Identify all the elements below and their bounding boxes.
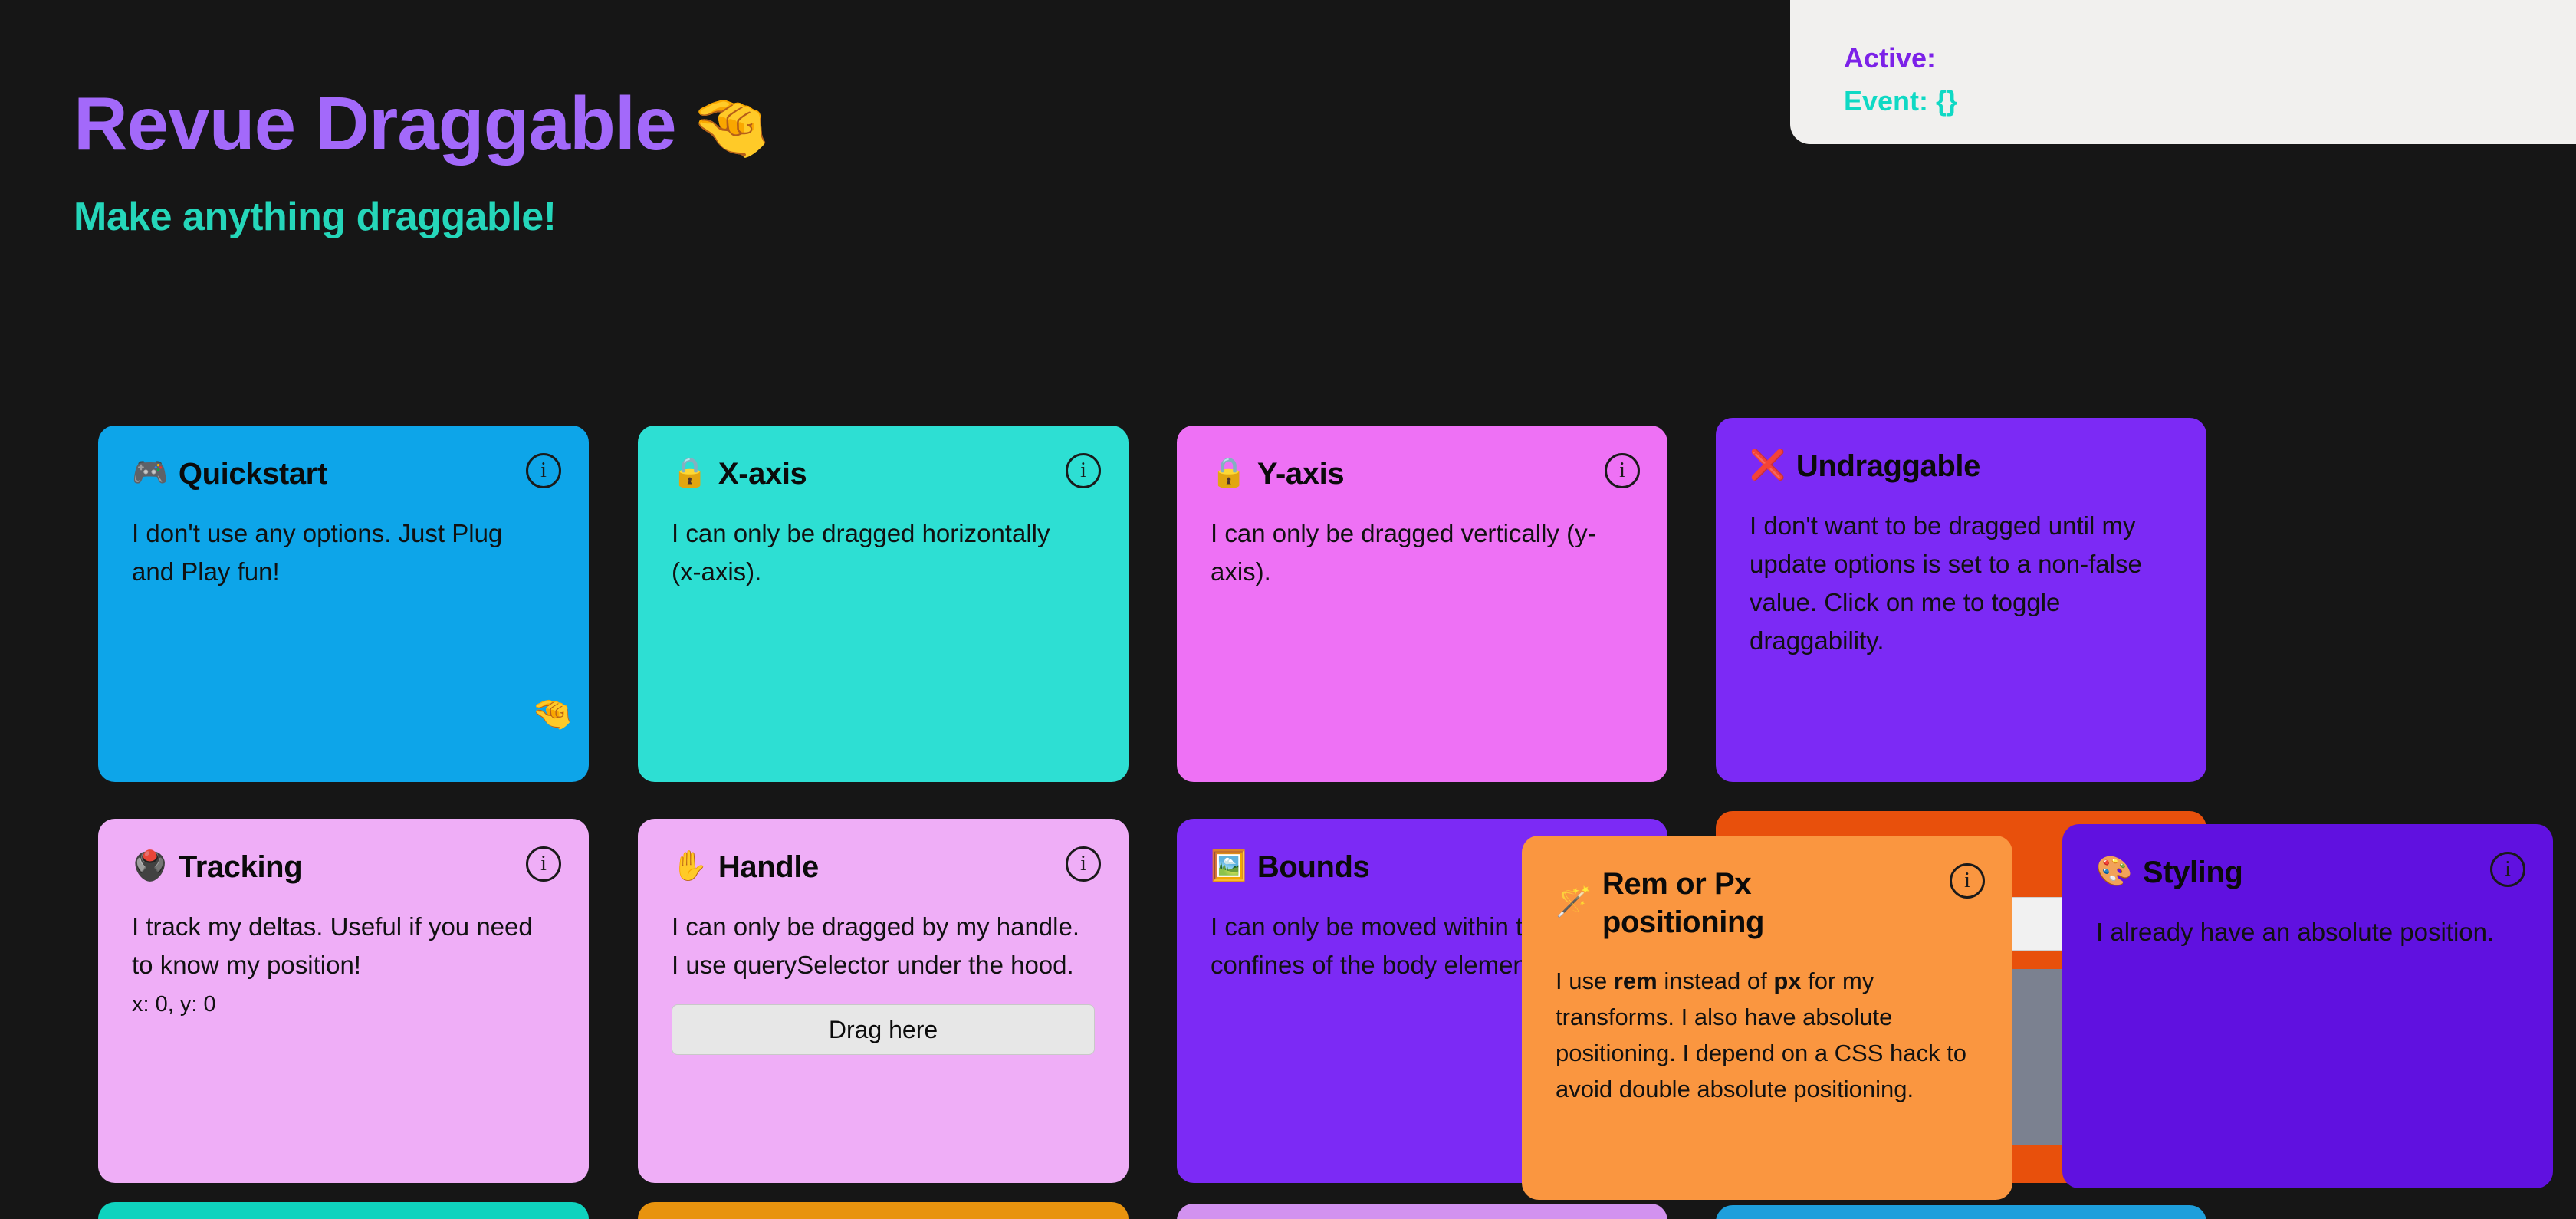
card-header: ❌ Undraggable — [1750, 447, 2173, 485]
card-title: Y-axis — [1257, 455, 1344, 493]
card-description: I already have an absolute position. — [2096, 913, 2514, 951]
card-header: 🪄 Rem or Px positioning — [1556, 865, 1916, 941]
card-undraggable[interactable]: ❌ Undraggable I don't want to be dragged… — [1716, 418, 2206, 782]
card-title: Handle — [718, 848, 819, 886]
card-title: Undraggable — [1796, 447, 1980, 485]
card-header: 🖲️ Tracking — [132, 848, 555, 886]
lock-icon: 🔒 — [1211, 455, 1247, 492]
body-part-3: px — [1773, 968, 1801, 994]
body-part-0: I use — [1556, 968, 1614, 994]
card-x-axis[interactable]: 🔒 X-axis I can only be dragged horizonta… — [638, 426, 1129, 782]
tracking-delta-value: x: 0, y: 0 — [132, 989, 555, 1020]
card-description: I use rem instead of px for my transform… — [1556, 963, 1977, 1107]
info-icon[interactable]: i — [1950, 863, 1985, 899]
body-part-1: rem — [1614, 968, 1658, 994]
status-active-label: Active: — [1844, 42, 1936, 74]
raised-hand-icon: ✋ — [672, 849, 708, 886]
card-handle[interactable]: ✋ Handle I can only be dragged by my han… — [638, 819, 1129, 1183]
info-icon[interactable]: i — [1066, 453, 1101, 488]
framed-picture-icon: 🖼️ — [1211, 849, 1247, 886]
info-icon[interactable]: i — [526, 846, 561, 882]
lock-icon: 🔒 — [672, 455, 708, 492]
card-tracking[interactable]: 🖲️ Tracking I track my deltas. Useful if… — [98, 819, 589, 1183]
app-root: Revue Draggable🤏 Make anything draggable… — [0, 0, 2576, 1219]
info-icon[interactable]: i — [1066, 846, 1101, 882]
info-icon[interactable]: i — [1605, 453, 1640, 488]
card-peek-2[interactable] — [638, 1202, 1129, 1219]
card-quickstart[interactable]: 🎮 Quickstart I don't use any options. Ju… — [98, 426, 589, 782]
card-header: 🔒 Y-axis — [1211, 455, 1634, 493]
status-event-row: Event: {} — [1844, 80, 2576, 123]
body-part-2: instead of — [1658, 968, 1774, 994]
card-description: I can only be dragged by my handle. I us… — [672, 908, 1089, 984]
card-y-axis[interactable]: 🔒 Y-axis I can only be dragged verticall… — [1177, 426, 1667, 782]
card-header: 🎨 Styling — [2096, 853, 2519, 892]
page-subtitle: Make anything draggable! — [74, 194, 771, 240]
pinching-hand-icon: 🤏 — [531, 694, 573, 734]
card-header: 🎮 Quickstart — [132, 455, 555, 493]
drag-handle-button[interactable]: Drag here — [672, 1004, 1095, 1055]
card-peek-1[interactable] — [98, 1202, 589, 1219]
card-description: I don't use any options. Just Plug and P… — [132, 514, 515, 591]
trackball-icon: 🖲️ — [132, 849, 168, 886]
card-styling[interactable]: 🎨 Styling I already have an absolute pos… — [2062, 824, 2553, 1188]
pinching-hand-icon: 🤏 — [690, 90, 771, 164]
card-header: 🔒 X-axis — [672, 455, 1095, 493]
card-rem-or-px[interactable]: 🪄 Rem or Px positioning I use rem instea… — [1522, 836, 2013, 1200]
status-active-row: Active: — [1844, 37, 2576, 80]
card-title: Bounds — [1257, 848, 1369, 886]
game-controller-icon: 🎮 — [132, 455, 168, 492]
card-title: Quickstart — [179, 455, 327, 493]
card-title: X-axis — [718, 455, 807, 493]
status-event-label: Event: — [1844, 85, 1928, 117]
card-description: I track my deltas. Useful if you need to… — [132, 908, 550, 984]
cross-mark-icon: ❌ — [1750, 448, 1786, 485]
page-title: Revue Draggable🤏 — [74, 84, 771, 163]
card-title: Rem or Px positioning — [1602, 865, 1916, 941]
card-title: Styling — [2143, 853, 2243, 892]
card-description: I don't want to be dragged until my upda… — [1750, 507, 2173, 661]
artist-palette-icon: 🎨 — [2096, 854, 2132, 891]
info-icon[interactable]: i — [526, 453, 561, 488]
magic-wand-icon: 🪄 — [1556, 885, 1592, 922]
status-event-value: {} — [1936, 85, 1957, 117]
card-title: Tracking — [179, 848, 302, 886]
info-icon[interactable]: i — [2490, 852, 2525, 887]
hero-header: Revue Draggable🤏 Make anything draggable… — [74, 84, 771, 240]
card-peek-4[interactable] — [1716, 1205, 2206, 1219]
status-panel: Active: Event: {} — [1790, 0, 2576, 144]
card-description: I can only be dragged vertically (y-axis… — [1211, 514, 1625, 591]
card-peek-3[interactable] — [1177, 1204, 1667, 1219]
card-header: ✋ Handle — [672, 848, 1095, 886]
page-title-text: Revue Draggable — [74, 81, 676, 166]
card-description: I can only be dragged horizontally (x-ax… — [672, 514, 1055, 591]
